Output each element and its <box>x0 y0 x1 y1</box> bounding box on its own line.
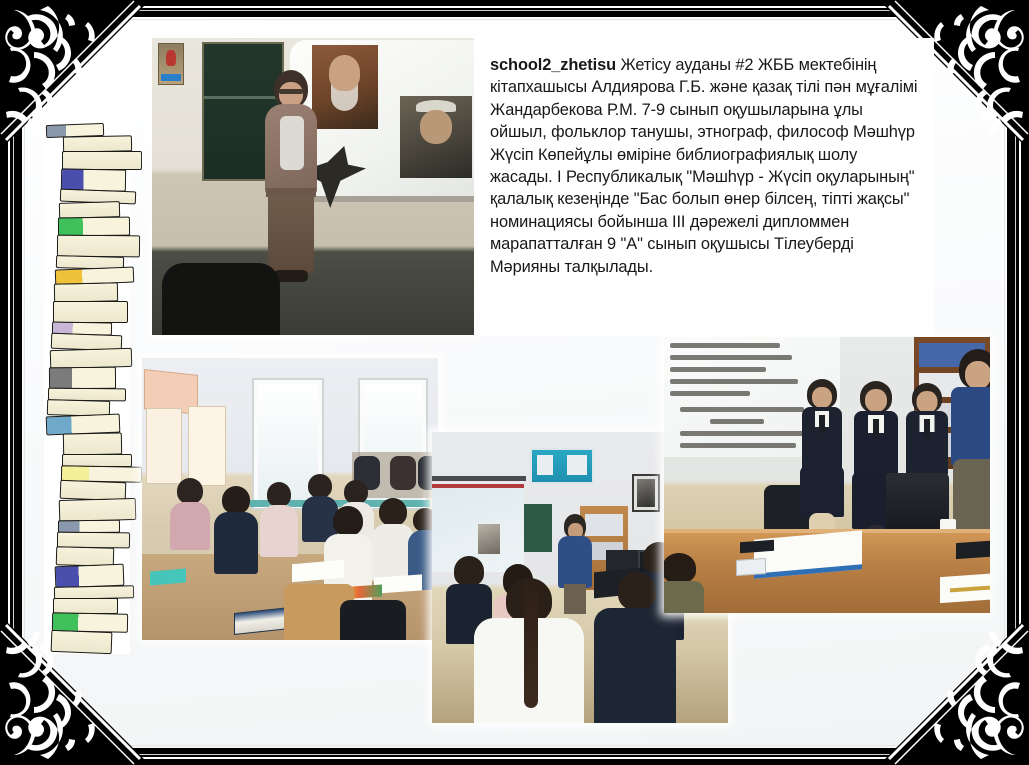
book <box>58 217 130 237</box>
photo-classroom-seated <box>142 358 438 640</box>
book-stack-illustration <box>44 122 130 654</box>
post-caption-body: Жетісу ауданы #2 ЖББ мектебінің кітапхаш… <box>490 56 917 276</box>
book <box>49 367 116 390</box>
pupil-left <box>802 379 842 541</box>
post-caption-panel: school2_zhetisu Жетісу ауданы #2 ЖББ мек… <box>478 38 934 336</box>
book <box>53 301 128 323</box>
post-caption-text: school2_zhetisu Жетісу ауданы #2 ЖББ мек… <box>478 38 934 288</box>
book <box>62 151 142 170</box>
photo-students-standing <box>664 337 990 613</box>
photo-teacher-presentation <box>152 38 474 335</box>
book <box>54 282 118 302</box>
book <box>59 498 137 522</box>
post-account-handle[interactable]: school2_zhetisu <box>490 56 616 74</box>
book <box>57 235 140 258</box>
book <box>63 432 122 455</box>
teacher-standing <box>950 349 990 545</box>
book <box>51 630 113 654</box>
poster-canvas: school2_zhetisu Жетісу ауданы #2 ЖББ мек… <box>0 0 1029 765</box>
